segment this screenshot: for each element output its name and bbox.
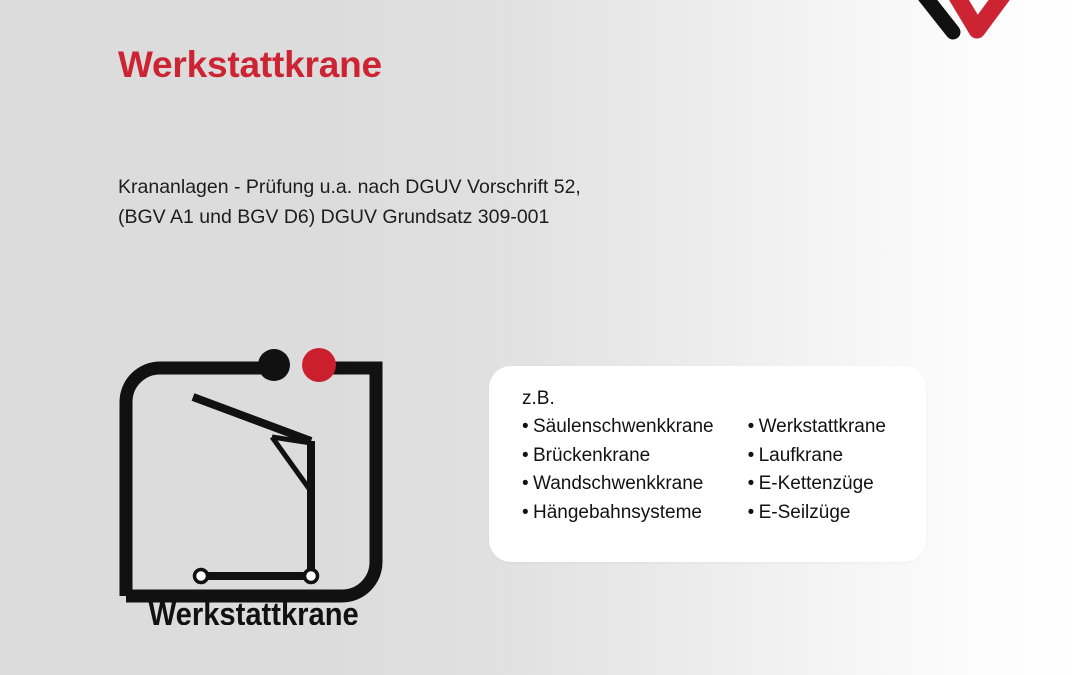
subtitle-line-1: Krananlagen - Prüfung u.a. nach DGUV Vor… [118,172,581,202]
list-item-label: Wandschwenkkrane [533,473,703,494]
bullet-icon: • [522,413,533,442]
list-item: •Wandschwenkkrane [522,470,748,499]
page-title: Werkstattkrane [118,44,382,86]
bullet-icon: • [522,442,533,471]
logo-red-check [953,0,1011,30]
bullet-icon: • [748,499,759,528]
list-item-label: Hängebahnsysteme [533,502,702,523]
list-item: •Brückenkrane [522,442,748,471]
logo-black-stroke [923,0,953,32]
bullet-icon: • [748,470,759,499]
list-item-label: Brückenkrane [533,445,650,466]
bullet-icon: • [748,413,759,442]
subtitle-line-2: (BGV A1 und BGV D6) DGUV Grundsatz 309-0… [118,202,581,232]
examples-column-left: •Säulenschwenkkrane •Brückenkrane •Wands… [522,413,748,527]
list-item: •Werkstattkrane [748,413,914,442]
bullet-icon: • [522,470,533,499]
list-item: •Laufkrane [748,442,914,471]
examples-card: z.B. •Säulenschwenkkrane •Brückenkrane •… [489,366,926,562]
crane-pictogram [193,397,311,576]
list-item-label: E-Kettenzüge [759,473,874,494]
subtitle-block: Krananlagen - Prüfung u.a. nach DGUV Vor… [118,172,581,232]
bullet-icon: • [748,442,759,471]
bullet-icon: • [522,499,533,528]
werkstattkrane-badge-icon: Werkstattkrane [115,340,395,625]
examples-column-right: •Werkstattkrane •Laufkrane •E-Kettenzüge… [748,413,914,527]
list-item: •E-Kettenzüge [748,470,914,499]
list-item: •Säulenschwenkkrane [522,413,748,442]
list-item-label: Werkstattkrane [759,416,886,437]
crane-roller-left [195,570,208,583]
slide-canvas: Werkstattkrane Krananlagen - Prüfung u.a… [0,0,1080,675]
badge-caption: Werkstattkrane [149,596,359,625]
badge-frame-right [126,368,376,596]
list-item: •E-Seilzüge [748,499,914,528]
list-item: •Hängebahnsysteme [522,499,748,528]
badge-dot-black [258,349,290,381]
crane-roller-right [305,570,318,583]
list-item-label: Säulenschwenkkrane [533,416,714,437]
badge-dot-red [302,348,336,382]
w-logo [915,0,1025,52]
list-item-label: Laufkrane [759,445,844,466]
examples-intro-label: z.B. [522,386,914,411]
list-item-label: E-Seilzüge [759,502,851,523]
